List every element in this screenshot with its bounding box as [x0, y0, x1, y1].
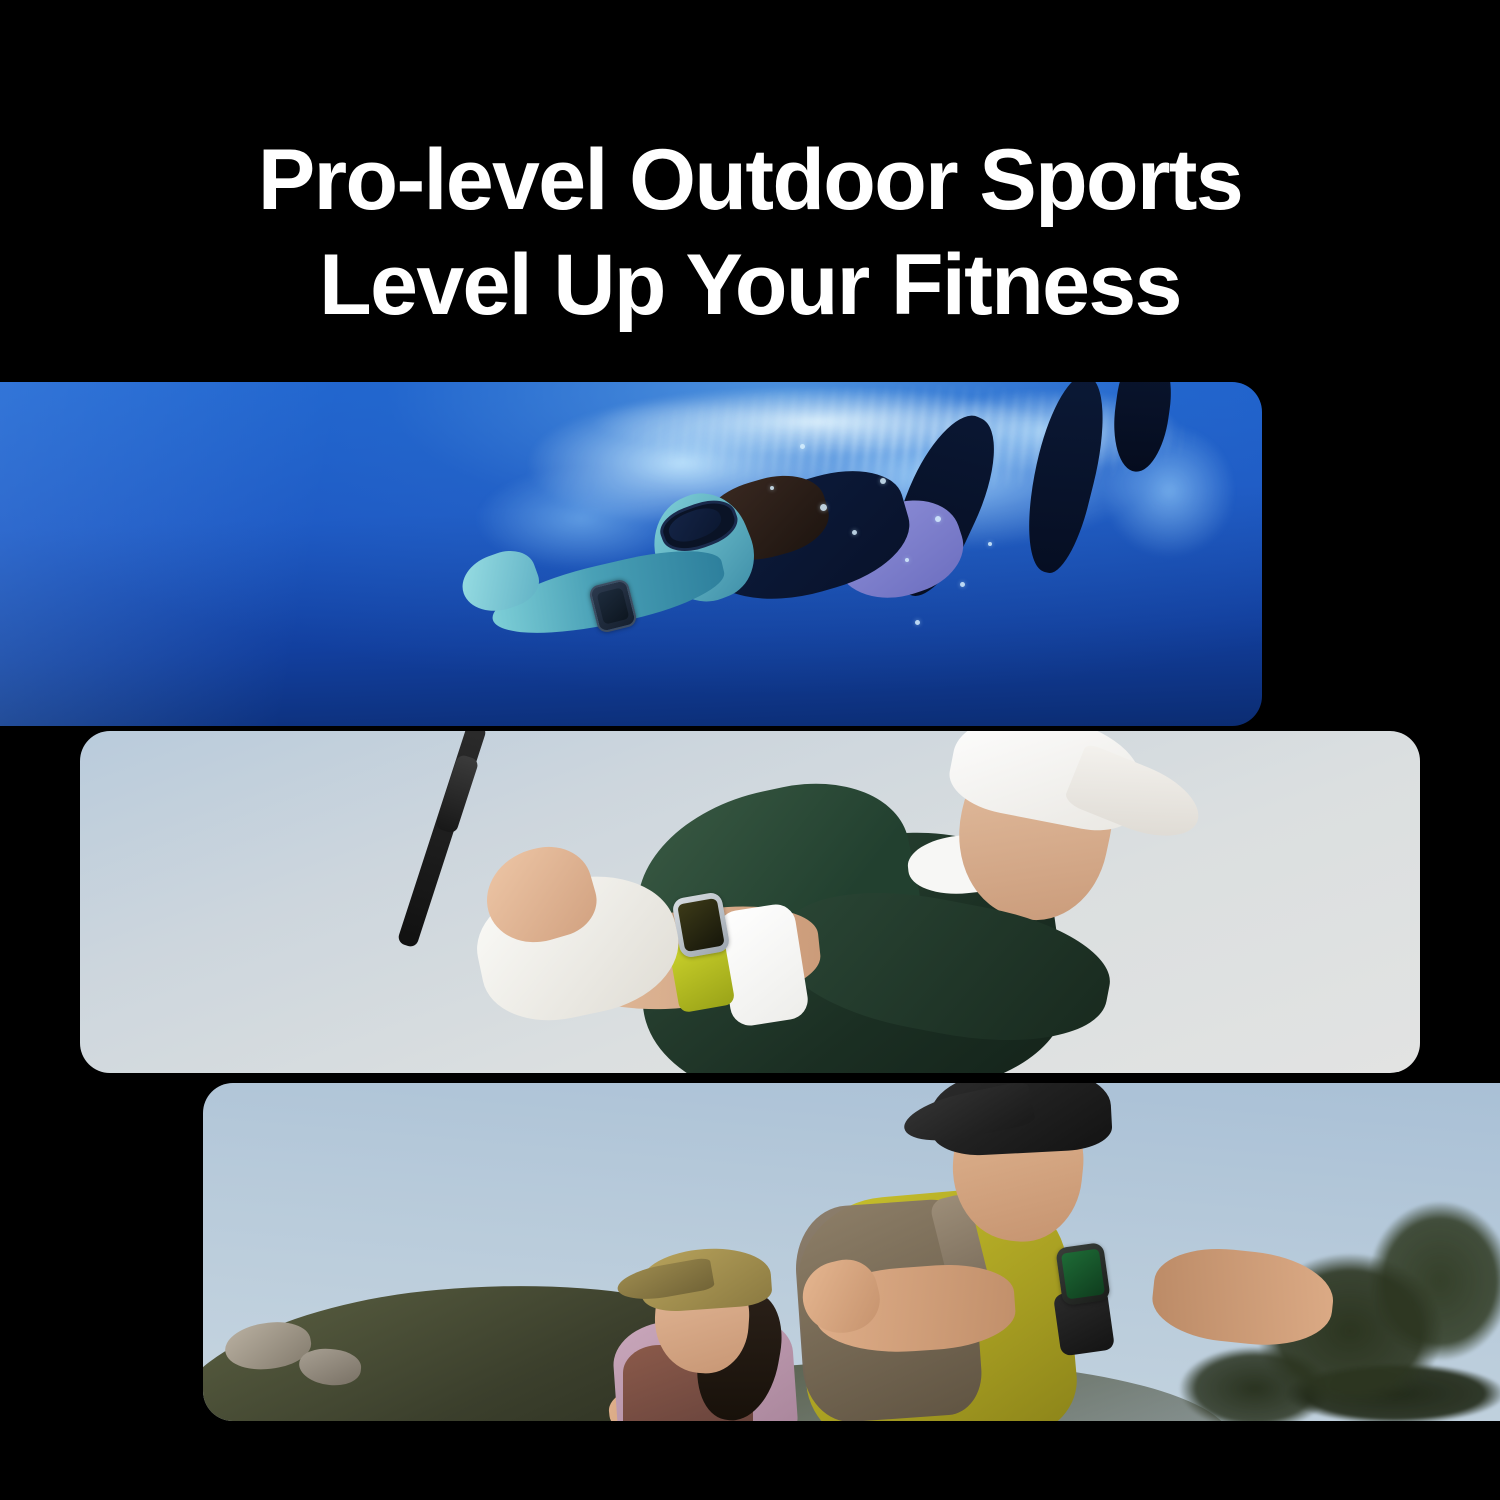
headline-line-2: Level Up Your Fitness: [0, 233, 1500, 338]
golfer-figure: [80, 731, 1420, 1073]
banner-trail-run[interactable]: Trail Run: [203, 1083, 1500, 1421]
smartwatch-on-wrist: [1055, 1242, 1111, 1306]
golf-club-grip: [434, 754, 479, 835]
headline-line-1: Pro-level Outdoor Sports: [0, 128, 1500, 233]
air-bubbles: [0, 382, 1262, 726]
trail-scene: [203, 1083, 1500, 1421]
page-title: Pro-level Outdoor Sports Level Up Your F…: [0, 128, 1500, 338]
smartwatch-on-wrist: [671, 891, 731, 959]
banner-freedive[interactable]: 40 m Freedive: [0, 382, 1262, 726]
banner-golf[interactable]: Golf: [80, 731, 1420, 1073]
